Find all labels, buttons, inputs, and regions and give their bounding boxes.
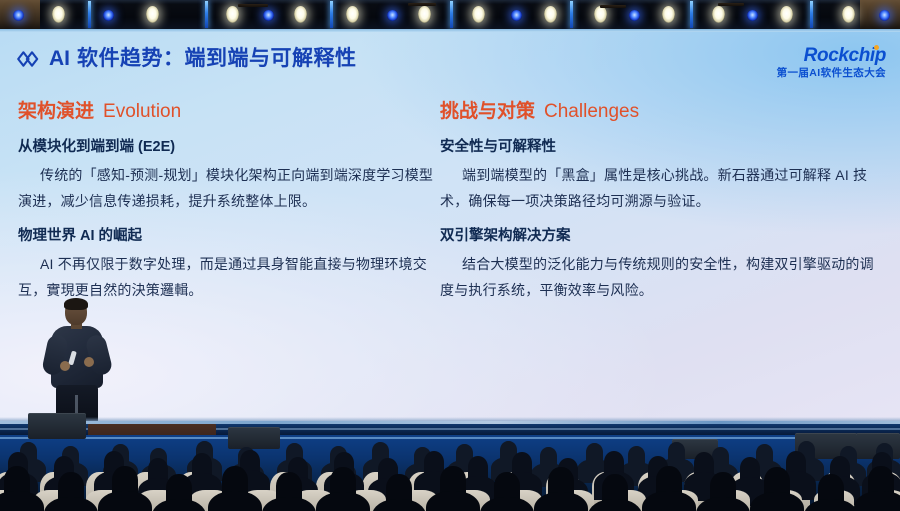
spotlight-white-10	[472, 6, 485, 23]
block-dual-engine-heading: 双引擎架构解决方案	[440, 228, 886, 245]
rockchip-logo: Rockchip	[804, 46, 886, 66]
spotlight-blue-20	[879, 10, 890, 21]
block-dual-engine: 双引擎架构解决方案 结合大模型的泛化能力与传统规则的安全性，构建双引擎驱动的调度…	[440, 228, 886, 304]
slide-title-ai: AI	[49, 48, 70, 69]
led-bar-6	[690, 1, 693, 28]
block-physical-ai-body: AI 不再仅限于数字处理，而是通过具身智能直接与物理环境交互，實現更自然的決策邏…	[18, 252, 434, 304]
spotlight-white-3	[146, 6, 159, 23]
truss-fixture-4	[718, 3, 744, 6]
spotlight-white-6	[294, 6, 307, 23]
slide-columns: 架构演进Evolution 从模块化到端到端 (E2E) 传统的「感知-预测-规…	[0, 101, 900, 317]
spotlight-white-13	[594, 6, 607, 23]
truss-fixture-3	[600, 5, 626, 8]
backdrop-light-strip	[0, 437, 900, 439]
spotlight-white-19	[842, 6, 855, 23]
section-title-challenges-cn: 挑战与对策	[440, 101, 535, 122]
page-title: 软件趋势：端到端与可解释性	[77, 48, 357, 69]
block-dual-engine-body: 结合大模型的泛化能力与传统规则的安全性，构建双引擎驱动的调度与执行系统，平衡效率…	[440, 252, 886, 304]
spotlight-blue-11	[511, 10, 522, 21]
spotlight-blue-17	[747, 10, 758, 21]
block-safety: 安全性与可解释性 端到端模型的「黑盒」属性是核心挑战。新石器通过可解释 AI 技…	[440, 139, 886, 215]
spotlight-white-7	[346, 6, 359, 23]
event-brand-block: Rockchip 第一届AI软件生态大会	[777, 46, 886, 79]
column-evolution: 架构演进Evolution 从模块化到端到端 (E2E) 传统的「感知-预测-规…	[0, 101, 440, 317]
section-title-evolution-cn: 架构演进	[18, 101, 94, 122]
stage-monitor-left	[28, 413, 86, 439]
stage-monitor-mid-left	[228, 427, 280, 449]
spotlight-white-1	[52, 6, 65, 23]
block-physical-ai: 物理世界 AI 的崛起 AI 不再仅限于数字处理，而是通过具身智能直接与物理环境…	[18, 228, 434, 304]
spotlight-white-18	[780, 6, 793, 23]
block-safety-heading: 安全性与可解释性	[440, 139, 886, 156]
led-bar-1	[88, 1, 91, 28]
section-title-evolution-en: Evolution	[103, 101, 181, 122]
spotlight-white-12	[544, 6, 557, 23]
spotlight-white-16	[712, 6, 725, 23]
spotlight-blue-2	[103, 10, 114, 21]
spotlight-blue-5	[263, 10, 274, 21]
section-title-evolution: 架构演进Evolution	[18, 101, 434, 123]
spotlight-blue-8	[387, 10, 398, 21]
spotlight-blue-14	[629, 10, 640, 21]
led-bar-4	[450, 1, 453, 28]
projected-slide: AI 软件趋势：端到端与可解释性 Rockchip 第一届AI软件生态大会 架构…	[0, 29, 900, 421]
event-subtitle: 第一届AI软件生态大会	[777, 68, 886, 79]
block-physical-ai-heading: 物理世界 AI 的崛起	[18, 228, 434, 245]
spotlight-blue-21	[13, 10, 24, 21]
double-diamond-icon	[16, 49, 42, 69]
presenter-left-hand	[60, 361, 70, 371]
block-e2e: 从模块化到端到端 (E2E) 传统的「感知-预测-规划」模块化架构正向端到端深度…	[18, 139, 434, 215]
led-bar-7	[810, 1, 813, 28]
led-bar-5	[570, 1, 573, 28]
presenter-right-hand	[84, 357, 94, 367]
spotlight-white-4	[226, 6, 239, 23]
block-safety-body: 端到端模型的「黑盒」属性是核心挑战。新石器通过可解释 AI 技术，确保每一项决策…	[440, 163, 886, 215]
presenter-hair	[64, 298, 88, 310]
column-challenges: 挑战与对策Challenges 安全性与可解释性 端到端模型的「黑盒」属性是核心…	[440, 101, 900, 317]
conference-presentation-photo: AI 软件趋势：端到端与可解释性 Rockchip 第一届AI软件生态大会 架构…	[0, 0, 900, 511]
block-e2e-heading: 从模块化到端到端 (E2E)	[18, 139, 434, 156]
presenter-on-stage	[34, 299, 120, 421]
led-bar-2	[205, 1, 208, 28]
section-title-challenges: 挑战与对策Challenges	[440, 101, 886, 123]
truss-fixture-2	[408, 3, 436, 6]
spotlight-white-15	[662, 6, 675, 23]
truss-fixture-1	[238, 4, 268, 7]
led-bar-3	[330, 1, 333, 28]
slide-title-row: AI 软件趋势：端到端与可解释性	[16, 48, 357, 69]
spotlight-white-9	[418, 6, 431, 23]
block-e2e-body: 传统的「感知-预测-规划」模块化架构正向端到端深度学习模型演进，减少信息传递损耗…	[18, 163, 434, 215]
stage-lighting-truss	[0, 0, 900, 29]
section-title-challenges-en: Challenges	[544, 101, 639, 122]
